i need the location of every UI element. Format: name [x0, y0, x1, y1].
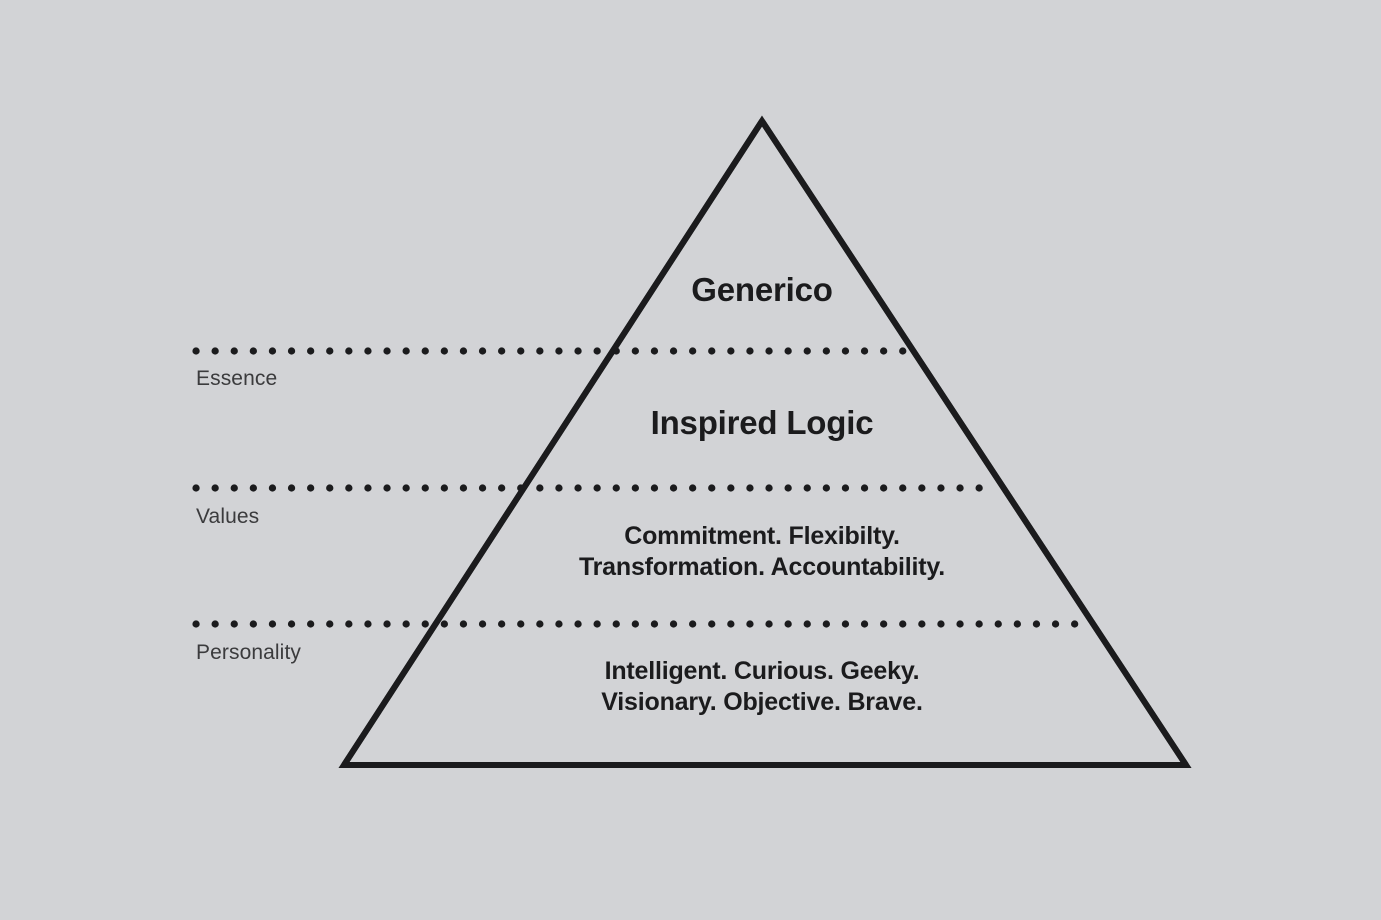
- tier-divider-lines: [196, 351, 1078, 624]
- brand-pyramid-diagram: Essence Values Personality Generico Insp…: [0, 0, 1381, 920]
- pyramid-graphic: [0, 0, 1381, 920]
- tier-content-personality-list: Intelligent. Curious. Geeky. Visionary. …: [462, 656, 1062, 717]
- tier-label-essence: Essence: [196, 367, 277, 391]
- tier-content-essence: Generico: [462, 270, 1062, 310]
- tier-label-personality: Personality: [196, 641, 301, 665]
- tier-label-values: Values: [196, 505, 259, 529]
- tier-content-values: Inspired Logic: [462, 403, 1062, 443]
- tier-content-values-list: Commitment. Flexibilty. Transformation. …: [462, 521, 1062, 582]
